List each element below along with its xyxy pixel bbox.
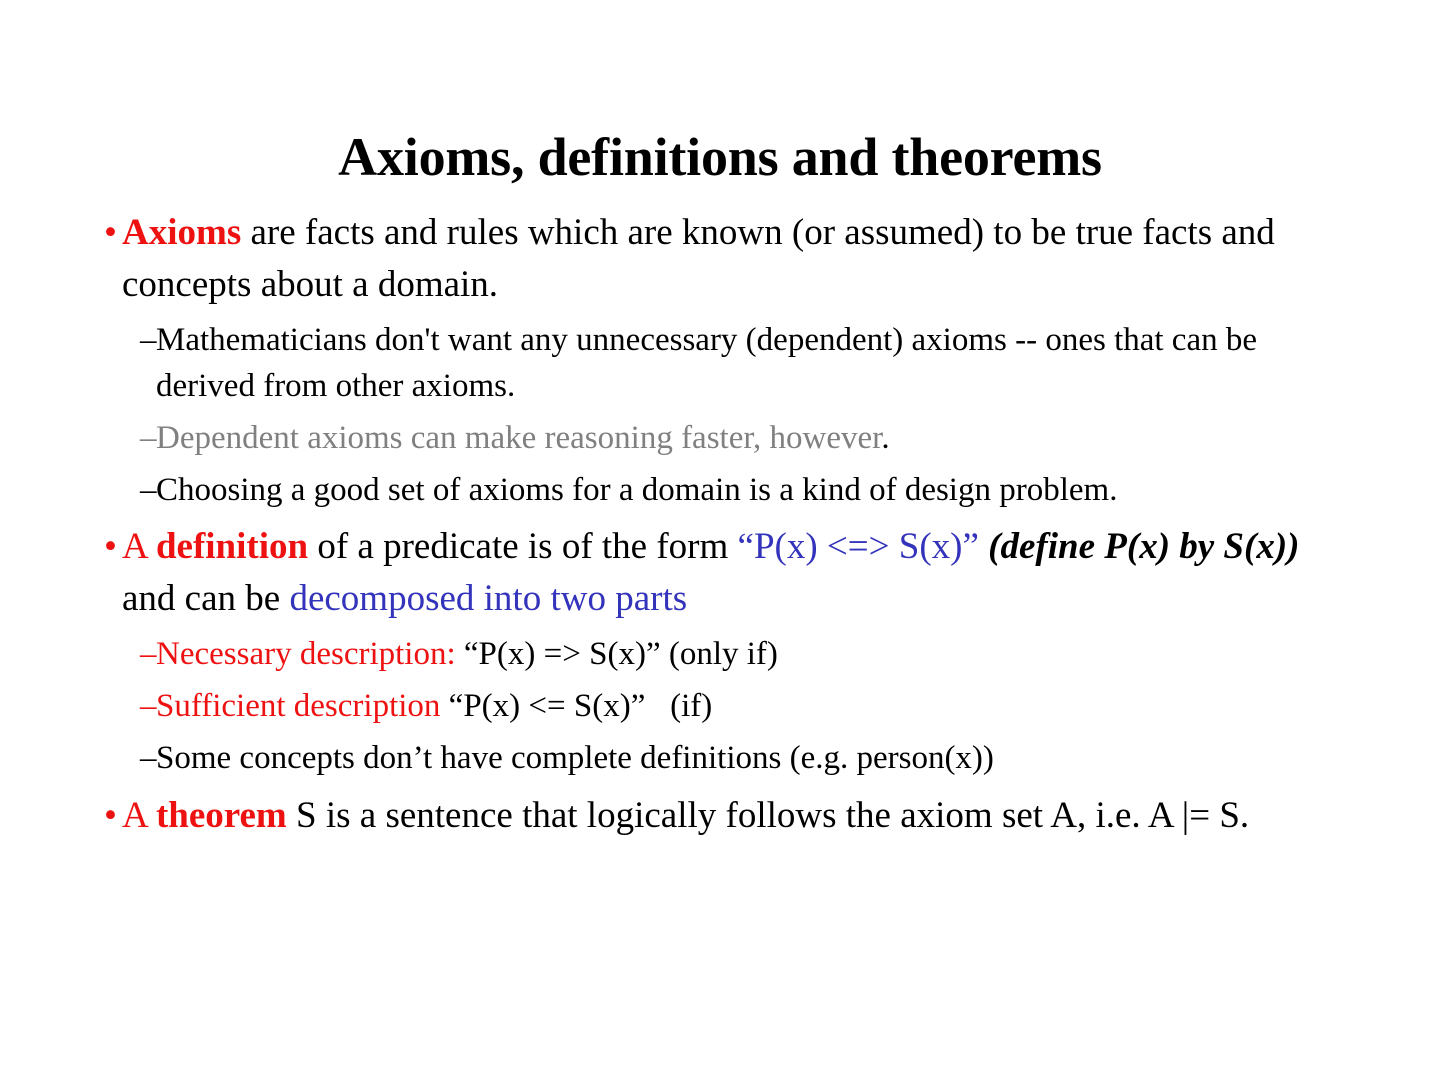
axioms-description: are facts and rules which are known (or … [122, 212, 1275, 305]
sub-bullet-period: . [881, 420, 889, 456]
dash-marker-icon: – [140, 683, 157, 729]
necessary-formula: “P(x) => S(x)” (only if) [456, 636, 778, 672]
sub-bullet-incomplete-definitions: –Some concepts don’t have complete defin… [104, 735, 1340, 781]
sub-bullet-dependent-axioms: –Dependent axioms can make reasoning fas… [104, 415, 1340, 461]
bullet-marker-icon: • [104, 207, 117, 259]
sub-bullet-necessary-description: –Necessary description: “P(x) => S(x)” (… [104, 631, 1340, 677]
definition-formula: “P(x) <=> S(x)” [738, 526, 979, 567]
dash-marker-icon: – [140, 317, 157, 363]
bullet-marker-icon: • [104, 521, 117, 573]
sub-bullet-text: Mathematicians don't want any unnecessar… [156, 322, 1257, 404]
sub-bullet-sufficient-description: –Sufficient description “P(x) <= S(x)” (… [104, 683, 1340, 729]
term-theorem: theorem [156, 795, 287, 836]
page-title: Axioms, definitions and theorems [0, 128, 1440, 187]
definition-mid: of a predicate is of the form [308, 526, 737, 567]
theorem-description: S is a sentence that logically follows t… [287, 795, 1249, 836]
sub-bullet-text: Choosing a good set of axioms for a doma… [156, 472, 1117, 508]
dash-marker-icon: – [140, 415, 157, 461]
sub-bullet-mathematicians: –Mathematicians don't want any unnecessa… [104, 317, 1340, 409]
definition-lead: A [122, 526, 156, 567]
necessary-label: Necessary description: [156, 636, 456, 672]
bullet-definition: •A definition of a predicate is of the f… [104, 521, 1340, 625]
definition-emphasis: (define P(x) by S(x)) [988, 526, 1299, 567]
definition-after-emphasis: and can be [122, 578, 289, 619]
sub-bullet-text: Dependent axioms can make reasoning fast… [156, 420, 881, 456]
sub-bullet-text: Some concepts don’t have complete defini… [156, 740, 994, 776]
definition-blue-tail: decomposed into two parts [289, 578, 687, 619]
bullet-marker-icon: • [104, 790, 117, 842]
dash-marker-icon: – [140, 735, 157, 781]
slide-body: •Axioms are facts and rules which are kn… [104, 207, 1340, 843]
theorem-lead: A [122, 795, 156, 836]
sub-bullet-choosing-axioms: –Choosing a good set of axioms for a dom… [104, 467, 1340, 513]
term-axioms: Axioms [122, 212, 241, 253]
term-definition: definition [156, 526, 308, 567]
bullet-axioms: •Axioms are facts and rules which are kn… [104, 207, 1340, 311]
sufficient-formula: “P(x) <= S(x)” (if) [440, 688, 712, 724]
dash-marker-icon: – [140, 631, 157, 677]
slide: Axioms, definitions and theorems •Axioms… [0, 0, 1440, 1080]
dash-marker-icon: – [140, 467, 157, 513]
sufficient-label: Sufficient description [156, 688, 440, 724]
bullet-theorem: •A theorem S is a sentence that logicall… [104, 790, 1340, 842]
